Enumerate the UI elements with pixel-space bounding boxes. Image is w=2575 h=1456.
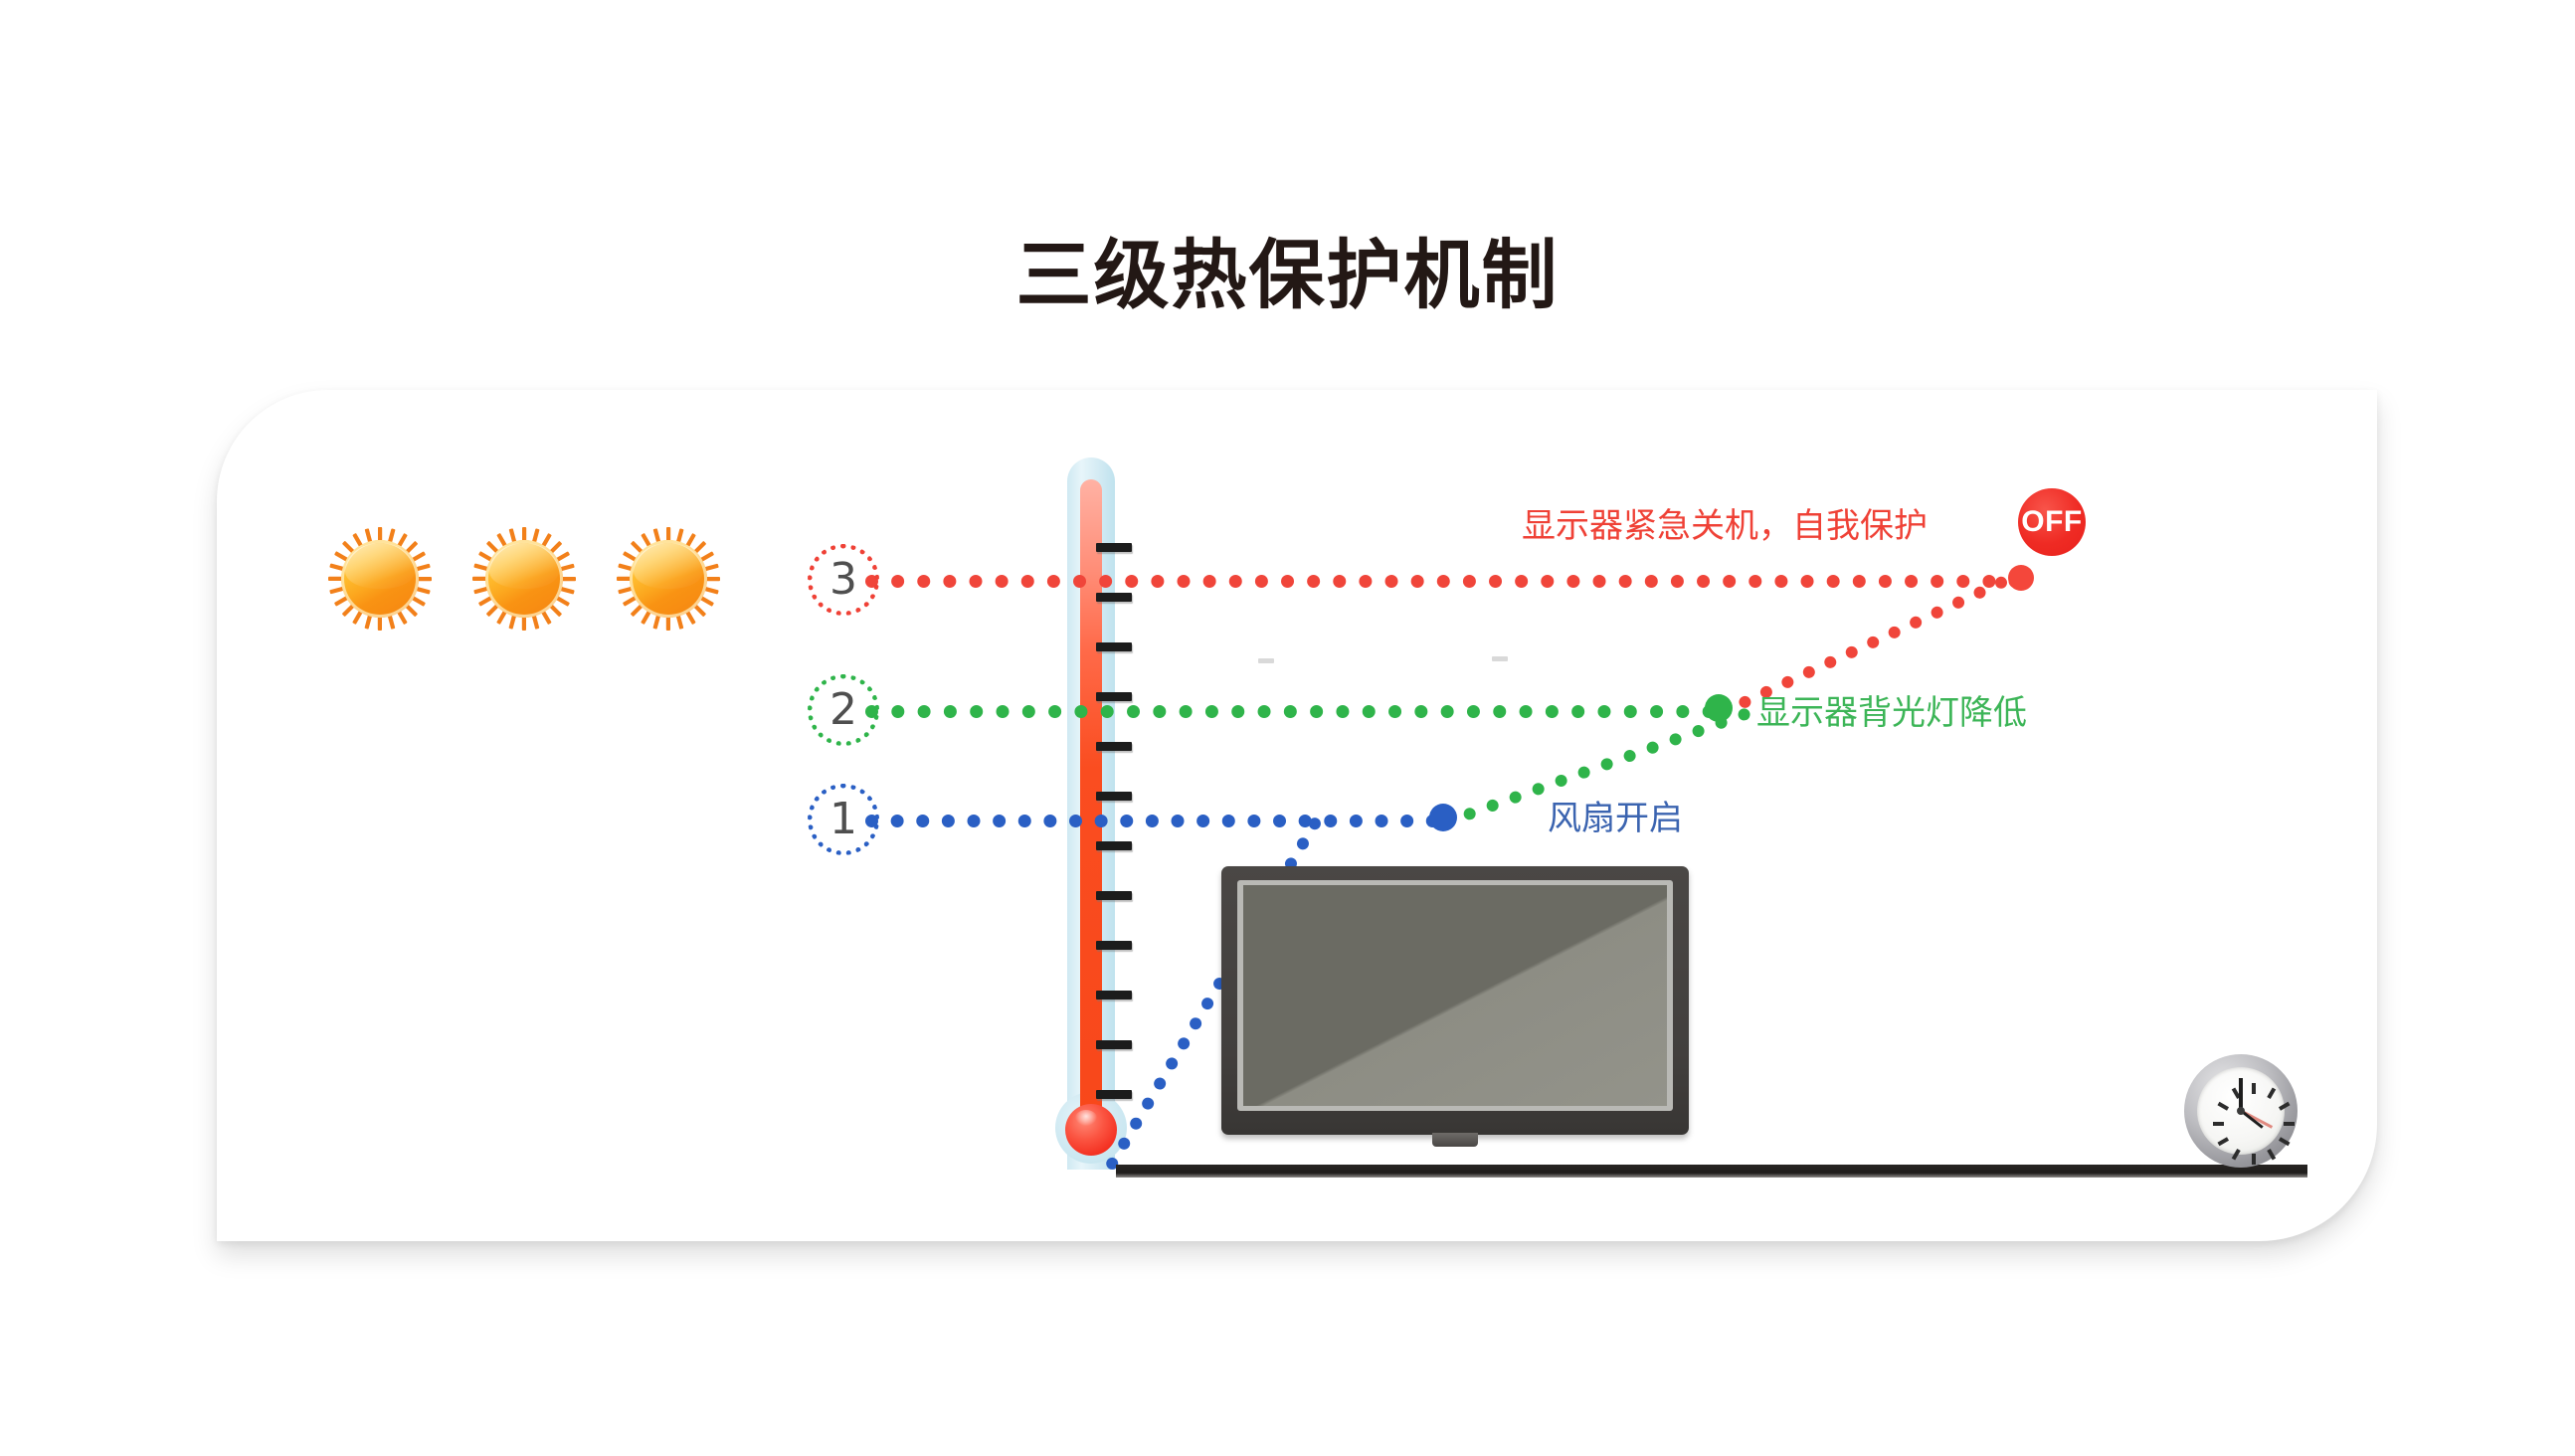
thermometer-tick — [1096, 891, 1132, 900]
step-label-3: 显示器紧急关机，自我保护 — [1522, 509, 1928, 543]
step-badge-2[interactable]: 2 — [808, 674, 879, 746]
thermometer-tick — [1096, 543, 1132, 552]
step-number-3: 3 — [829, 558, 857, 602]
level-line-3 — [865, 575, 2022, 588]
step-label-2: 显示器背光灯降低 — [1756, 696, 2027, 730]
step-label-1: 风扇开启 — [1548, 802, 1683, 835]
thermometer-tick — [1096, 742, 1132, 751]
monitor-stand — [1432, 1133, 1478, 1147]
ramp-node-2 — [1705, 694, 1733, 722]
base-line — [1116, 1165, 2307, 1178]
speck — [1492, 656, 1508, 661]
thermometer-icon — [1055, 457, 1127, 1233]
speck — [1258, 658, 1274, 663]
thermometer-tick — [1096, 941, 1132, 950]
thermometer-tick — [1096, 642, 1132, 651]
thermometer-tick — [1096, 1040, 1132, 1049]
clock-mark — [2284, 1122, 2295, 1126]
thermometer-tick — [1096, 841, 1132, 850]
clock-mark — [2252, 1154, 2256, 1165]
clock-mark — [2213, 1122, 2224, 1126]
step-badge-1[interactable]: 1 — [808, 784, 879, 855]
step-number-1: 1 — [829, 798, 857, 841]
monitor-inner-frame — [1237, 880, 1673, 1111]
monitor-icon — [1221, 866, 1689, 1163]
clock-mark — [2267, 1087, 2276, 1099]
ramp-node-1 — [1429, 804, 1457, 831]
thermometer-tick — [1096, 692, 1132, 701]
clock-mark — [2217, 1102, 2229, 1111]
sun-icon-2 — [472, 527, 576, 631]
step-number-2: 2 — [829, 688, 857, 732]
thermometer-tick — [1096, 1090, 1132, 1099]
clock-icon — [2184, 1054, 2298, 1168]
thermometer-bulb-highlight — [1075, 1110, 1097, 1126]
clock-mark — [2217, 1137, 2229, 1146]
off-badge-icon: OFF — [2018, 488, 2086, 556]
clock-mark — [2252, 1083, 2256, 1094]
page-title: 三级热保护机制 — [0, 239, 2575, 314]
thermometer-tick — [1096, 792, 1132, 801]
thermometer-tick — [1096, 593, 1132, 602]
level-line-2 — [865, 705, 1716, 718]
level-line-1 — [865, 815, 1439, 827]
diagram-stage: 三级热保护机制 — [0, 0, 2575, 1456]
thermometer-tick — [1096, 991, 1132, 1000]
ramp-node-3 — [2008, 565, 2034, 591]
clock-center-pin — [2237, 1107, 2245, 1115]
step-badge-3[interactable]: 3 — [808, 544, 879, 616]
off-badge-label: OFF — [2021, 505, 2083, 539]
sun-icon-1 — [328, 527, 432, 631]
monitor-screen — [1243, 885, 1667, 1106]
sun-icon-3 — [617, 527, 720, 631]
